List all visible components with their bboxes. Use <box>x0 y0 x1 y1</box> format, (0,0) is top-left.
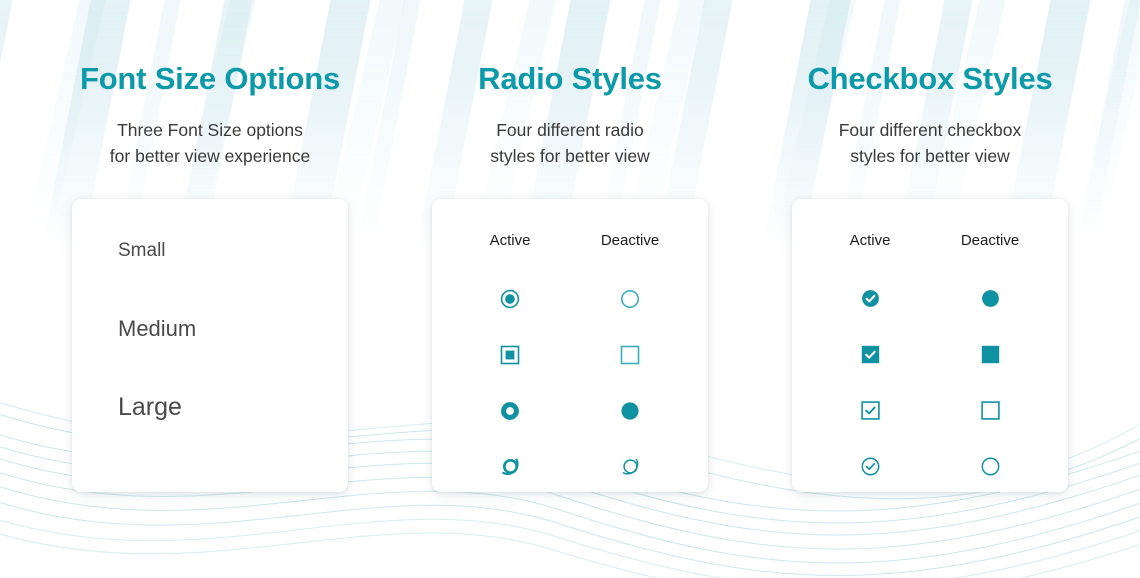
subtitle-line-1: Four different checkbox <box>839 120 1022 140</box>
checkbox-active-cell-4[interactable] <box>826 457 914 476</box>
font-size-option-medium[interactable]: Medium <box>118 318 348 340</box>
checkbox-active-cell-2[interactable] <box>826 345 914 364</box>
radio-column-headers: Active Deactive <box>466 232 674 249</box>
radio-slashed-circle-filled-icon[interactable] <box>500 456 521 477</box>
radio-ring-icon[interactable] <box>500 401 520 421</box>
square-filled-icon[interactable] <box>981 345 1000 364</box>
subtitle-line-1: Three Font Size options <box>117 120 303 140</box>
checkbox-row-1 <box>826 271 1034 327</box>
check-square-outline-icon[interactable] <box>861 401 880 420</box>
radio-deactive-cell-3[interactable] <box>586 401 674 421</box>
checkbox-row-2 <box>826 327 1034 383</box>
radio-row-2 <box>466 327 674 383</box>
radio-deactive-cell-4[interactable] <box>586 456 674 477</box>
circle-filled-icon[interactable] <box>981 289 1000 308</box>
checkbox-deactive-cell-3[interactable] <box>946 401 1034 420</box>
check-circle-filled-icon[interactable] <box>861 289 880 308</box>
panel-subtitle-font-size: Three Font Size options for better view … <box>110 118 310 170</box>
subtitle-line-2: styles for better view <box>850 146 1010 166</box>
panel-font-size-options: Font Size Options Three Font Size option… <box>30 0 390 578</box>
radio-square-empty-icon[interactable] <box>620 345 640 365</box>
column-header-deactive: Deactive <box>946 232 1034 249</box>
checkbox-row-4 <box>826 439 1034 495</box>
checkbox-deactive-cell-4[interactable] <box>946 457 1034 476</box>
page-title-checkbox-styles: Checkbox Styles <box>807 62 1052 96</box>
radio-styles-card: Active Deactive <box>432 199 708 492</box>
panel-subtitle-radio-styles: Four different radio styles for better v… <box>490 118 650 170</box>
checkbox-styles-card: Active Deactive <box>792 199 1068 492</box>
check-circle-outline-icon[interactable] <box>861 457 880 476</box>
checkbox-deactive-cell-1[interactable] <box>946 289 1034 308</box>
checkbox-column-headers: Active Deactive <box>826 232 1034 249</box>
panel-subtitle-checkbox-styles: Four different checkbox styles for bette… <box>839 118 1022 170</box>
panel-checkbox-styles: Checkbox Styles Four different checkbox … <box>750 0 1110 578</box>
radio-active-cell-4[interactable] <box>466 456 554 477</box>
radio-active-cell-1[interactable] <box>466 289 554 309</box>
column-header-active: Active <box>466 232 554 249</box>
checkbox-deactive-cell-2[interactable] <box>946 345 1034 364</box>
style-guide-board: Font Size Options Three Font Size option… <box>0 0 1140 578</box>
font-size-option-small[interactable]: Small <box>118 241 348 260</box>
radio-row-4 <box>466 439 674 495</box>
radio-slashed-circle-icon[interactable] <box>620 456 641 477</box>
square-outline-icon[interactable] <box>981 401 1000 420</box>
column-header-active: Active <box>826 232 914 249</box>
radio-dot-filled-icon[interactable] <box>620 401 640 421</box>
radio-row-1 <box>466 271 674 327</box>
radio-deactive-cell-1[interactable] <box>586 289 674 309</box>
checkbox-active-cell-3[interactable] <box>826 401 914 420</box>
check-square-filled-icon[interactable] <box>861 345 880 364</box>
page-title-font-size: Font Size Options <box>80 62 340 96</box>
subtitle-line-1: Four different radio <box>496 120 644 140</box>
radio-deactive-cell-2[interactable] <box>586 345 674 365</box>
radio-active-cell-3[interactable] <box>466 401 554 421</box>
checkbox-active-cell-1[interactable] <box>826 289 914 308</box>
font-size-card: Small Medium Large <box>72 199 348 492</box>
radio-row-3 <box>466 383 674 439</box>
radio-square-selected-icon[interactable] <box>500 345 520 365</box>
radio-circle-selected-icon[interactable] <box>500 289 520 309</box>
column-header-deactive: Deactive <box>586 232 674 249</box>
circle-outline-icon[interactable] <box>981 457 1000 476</box>
page-title-radio-styles: Radio Styles <box>478 62 662 96</box>
panel-radio-styles: Radio Styles Four different radio styles… <box>390 0 750 578</box>
checkbox-row-3 <box>826 383 1034 439</box>
radio-active-cell-2[interactable] <box>466 345 554 365</box>
subtitle-line-2: for better view experience <box>110 146 310 166</box>
radio-circle-empty-icon[interactable] <box>620 289 640 309</box>
font-size-option-large[interactable]: Large <box>118 395 348 420</box>
subtitle-line-2: styles for better view <box>490 146 650 166</box>
